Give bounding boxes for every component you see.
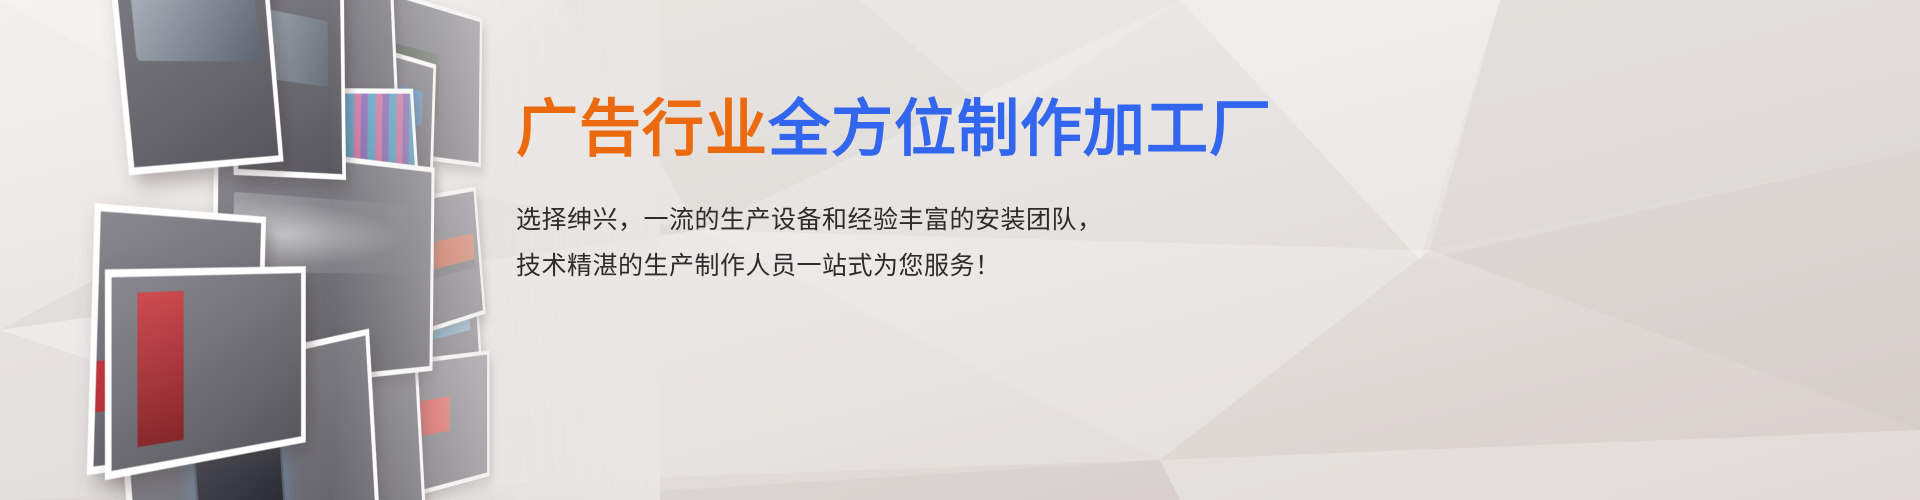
promo-banner: 广告行业全方位制作加工厂 选择绅兴，一流的生产设备和经验丰富的安装团队， 技术精…	[0, 0, 1920, 500]
photo-collage	[0, 0, 600, 500]
subtitle: 选择绅兴，一流的生产设备和经验丰富的安装团队， 技术精湛的生产制作人员一站式为您…	[516, 197, 1516, 290]
subtitle-line-1: 选择绅兴，一流的生产设备和经验丰富的安装团队，	[516, 197, 1516, 243]
collage-photo-1	[98, 0, 284, 175]
copy-block: 广告行业全方位制作加工厂 选择绅兴，一流的生产设备和经验丰富的安装团队， 技术精…	[516, 96, 1516, 289]
subtitle-line-2: 技术精湛的生产制作人员一站式为您服务！	[516, 243, 1516, 289]
page-title: 广告行业全方位制作加工厂	[516, 96, 1516, 163]
headline-highlight: 广告行业	[516, 92, 768, 165]
headline-rest: 全方位制作加工厂	[768, 92, 1272, 165]
